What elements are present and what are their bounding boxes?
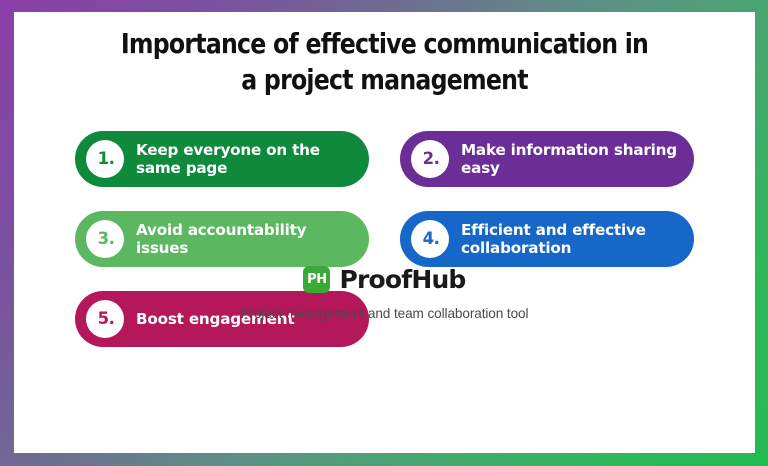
benefit-label-2: Make information sharing easy — [461, 141, 680, 178]
page-title: Importance of effective communication in… — [66, 26, 703, 98]
benefit-number-badge-1: 1. — [86, 140, 124, 178]
benefit-label-3: Avoid accountability issues — [136, 221, 355, 258]
benefit-item-1: 1. Keep everyone on the same page — [75, 131, 369, 187]
benefit-item-3: 3. Avoid accountability issues — [75, 211, 369, 267]
benefit-row-1: 1. Keep everyone on the same page 2. Mak… — [14, 131, 755, 211]
title-line-1: Importance of effective communication in — [66, 26, 703, 62]
proofhub-logo-icon: PH — [303, 266, 330, 293]
benefit-label-4: Efficient and effective collaboration — [461, 221, 680, 258]
infographic-card: Importance of effective communication in… — [0, 0, 768, 466]
benefit-list: 1. Keep everyone on the same page 2. Mak… — [14, 131, 755, 371]
benefit-row-3: 5. Boost engagement — [14, 291, 755, 371]
benefit-label-1: Keep everyone on the same page — [136, 141, 355, 178]
benefit-number-badge-3: 3. — [86, 220, 124, 258]
brand-name: ProofHub — [339, 265, 465, 294]
benefit-item-4: 4. Efficient and effective collaboration — [400, 211, 694, 267]
benefit-item-2: 2. Make information sharing easy — [400, 131, 694, 187]
brand-lockup: PH ProofHub — [14, 265, 755, 294]
benefit-number-badge-2: 2. — [411, 140, 449, 178]
benefit-number-badge-4: 4. — [411, 220, 449, 258]
title-line-2: a project management — [66, 62, 703, 98]
brand-tagline: Project management and team collaboratio… — [14, 306, 755, 321]
infographic-canvas: Importance of effective communication in… — [14, 12, 755, 453]
